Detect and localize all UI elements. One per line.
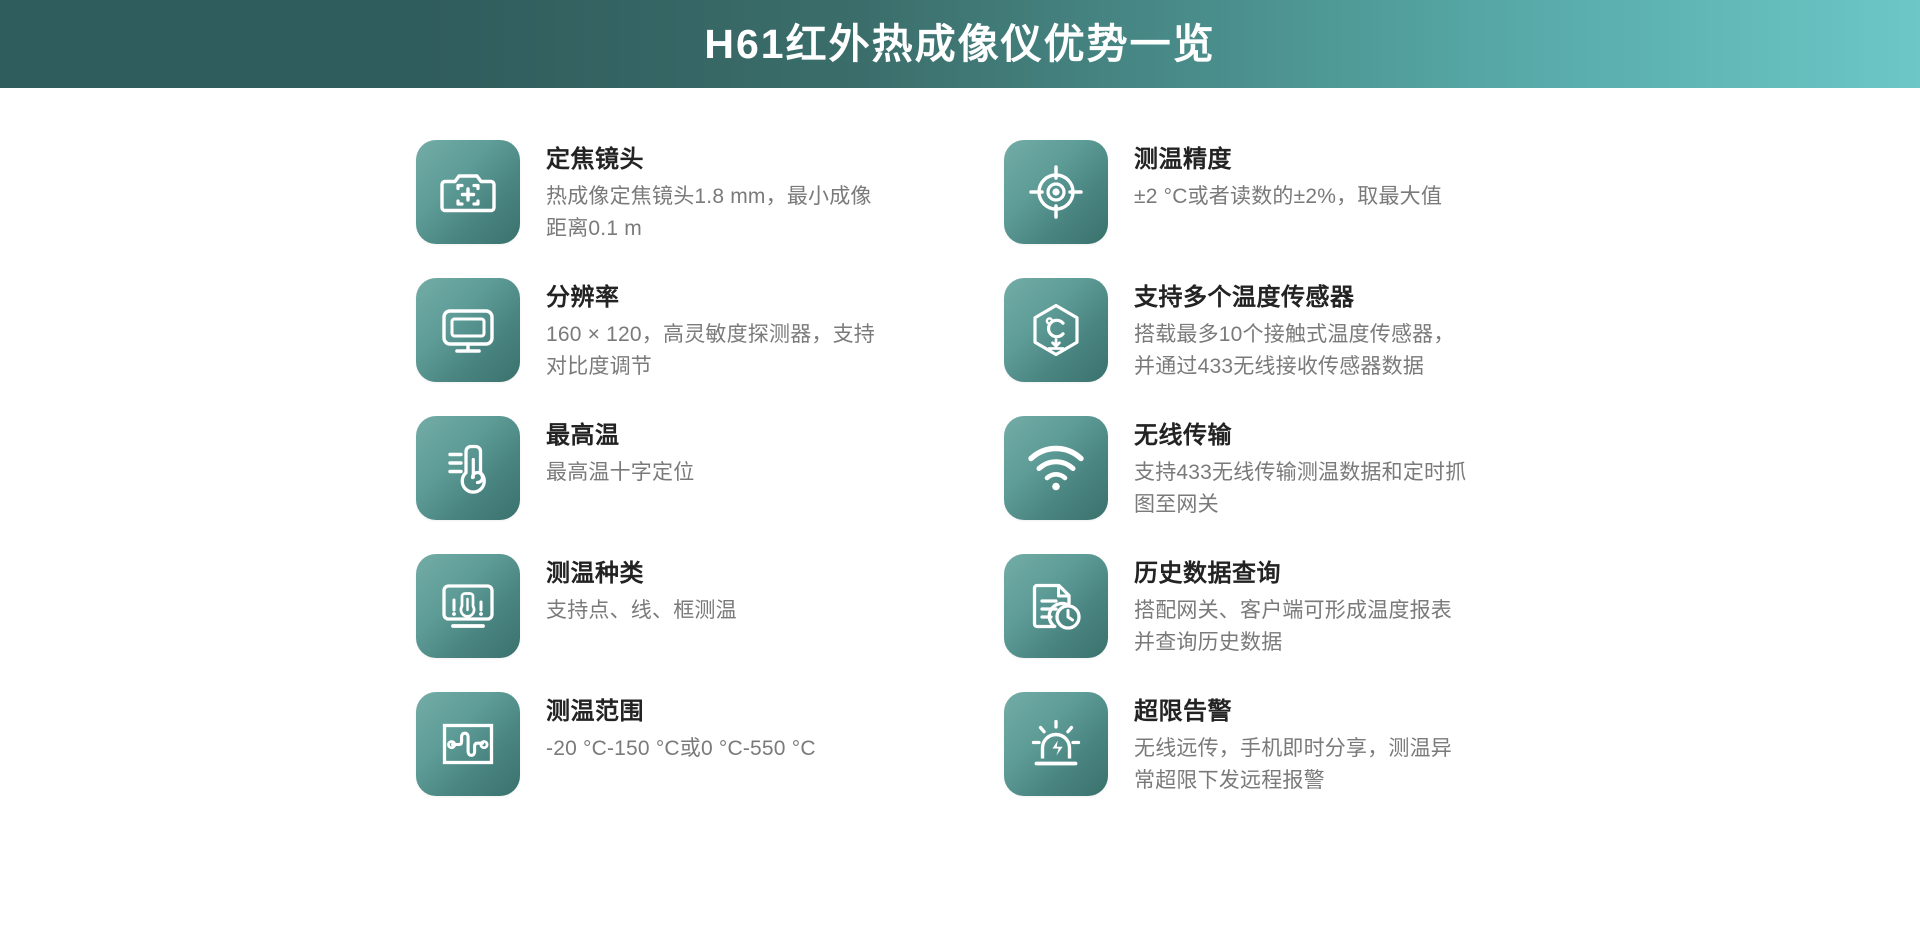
feature-description: 支持433无线传输测温数据和定时抓图至网关 xyxy=(1134,457,1472,522)
feature-title: 定焦镜头 xyxy=(546,144,884,176)
feature-description: ±2 °C或者读数的±2%，取最大值 xyxy=(1134,181,1442,214)
feature-text: 历史数据查询 搭配网关、客户端可形成温度报表并查询历史数据 xyxy=(1134,554,1472,660)
feature-item-multi-sensors: 支持多个温度传感器 搭载最多10个接触式温度传感器，并通过433无线接收传感器数… xyxy=(1004,278,1472,416)
feature-icon-tile xyxy=(416,416,520,520)
feature-icon-tile xyxy=(416,692,520,796)
feature-text: 无线传输 支持433无线传输测温数据和定时抓图至网关 xyxy=(1134,416,1472,522)
feature-title: 历史数据查询 xyxy=(1134,558,1472,590)
features-columns: 定焦镜头 热成像定焦镜头1.8 mm，最小成像距离0.1 m xyxy=(0,140,1920,830)
feature-title: 支持多个温度传感器 xyxy=(1134,282,1472,314)
monitor-icon xyxy=(439,301,497,359)
feature-text: 分辨率 160 × 120，高灵敏度探测器，支持对比度调节 xyxy=(546,278,884,384)
feature-icon-tile xyxy=(416,554,520,658)
thermometer-icon xyxy=(439,439,497,497)
feature-description: 支持点、线、框测温 xyxy=(546,595,737,628)
feature-text: 测温范围 -20 °C-150 °C或0 °C-550 °C xyxy=(546,692,816,765)
feature-text: 测温种类 支持点、线、框测温 xyxy=(546,554,737,627)
feature-text: 支持多个温度传感器 搭载最多10个接触式温度传感器，并通过433无线接收传感器数… xyxy=(1134,278,1472,384)
feature-item-accuracy: 测温精度 ±2 °C或者读数的±2%，取最大值 xyxy=(1004,140,1472,278)
feature-description: 热成像定焦镜头1.8 mm，最小成像距离0.1 m xyxy=(546,181,884,246)
feature-icon-tile xyxy=(1004,554,1108,658)
feature-icon-tile xyxy=(1004,416,1108,520)
feature-title: 分辨率 xyxy=(546,282,884,314)
feature-text: 测温精度 ±2 °C或者读数的±2%，取最大值 xyxy=(1134,140,1442,213)
feature-icon-tile xyxy=(1004,278,1108,382)
screen-thermometer-icon xyxy=(439,577,497,635)
feature-description: 最高温十字定位 xyxy=(546,457,694,490)
feature-item-history-query: 历史数据查询 搭配网关、客户端可形成温度报表并查询历史数据 xyxy=(1004,554,1472,692)
page-title: H61红外热成像仪优势一览 xyxy=(704,24,1215,65)
feature-title: 测温范围 xyxy=(546,696,816,728)
feature-description: 无线远传，手机即时分享，测温异常超限下发远程报警 xyxy=(1134,733,1472,798)
feature-icon-tile xyxy=(416,278,520,382)
features-column-left: 定焦镜头 热成像定焦镜头1.8 mm，最小成像距离0.1 m xyxy=(416,140,884,830)
feature-text: 最高温 最高温十字定位 xyxy=(546,416,694,489)
document-clock-icon xyxy=(1027,577,1085,635)
crosshair-target-icon xyxy=(1027,163,1085,221)
feature-title: 测温种类 xyxy=(546,558,737,590)
alarm-light-icon xyxy=(1027,715,1085,773)
feature-description: 搭载最多10个接触式温度传感器，并通过433无线接收传感器数据 xyxy=(1134,319,1472,384)
feature-item-max-temperature: 最高温 最高温十字定位 xyxy=(416,416,884,554)
feature-title: 测温精度 xyxy=(1134,144,1442,176)
camera-focus-icon xyxy=(439,163,497,221)
page-header-banner: H61红外热成像仪优势一览 xyxy=(0,0,1920,88)
feature-text: 超限告警 无线远传，手机即时分享，测温异常超限下发远程报警 xyxy=(1134,692,1472,798)
feature-icon-tile xyxy=(416,140,520,244)
feature-item-measure-range: 测温范围 -20 °C-150 °C或0 °C-550 °C xyxy=(416,692,884,830)
feature-item-wireless: 无线传输 支持433无线传输测温数据和定时抓图至网关 xyxy=(1004,416,1472,554)
feature-icon-tile xyxy=(1004,140,1108,244)
feature-item-measure-types: 测温种类 支持点、线、框测温 xyxy=(416,554,884,692)
feature-description: 160 × 120，高灵敏度探测器，支持对比度调节 xyxy=(546,319,884,384)
features-content: 定焦镜头 热成像定焦镜头1.8 mm，最小成像距离0.1 m xyxy=(0,88,1920,950)
feature-item-resolution: 分辨率 160 × 120，高灵敏度探测器，支持对比度调节 xyxy=(416,278,884,416)
feature-text: 定焦镜头 热成像定焦镜头1.8 mm，最小成像距离0.1 m xyxy=(546,140,884,246)
feature-title: 最高温 xyxy=(546,420,694,452)
feature-description: -20 °C-150 °C或0 °C-550 °C xyxy=(546,733,816,766)
feature-description: 搭配网关、客户端可形成温度报表并查询历史数据 xyxy=(1134,595,1472,660)
feature-title: 超限告警 xyxy=(1134,696,1472,728)
feature-item-over-limit-alarm: 超限告警 无线远传，手机即时分享，测温异常超限下发远程报警 xyxy=(1004,692,1472,830)
feature-title: 无线传输 xyxy=(1134,420,1472,452)
feature-item-fixed-focus-lens: 定焦镜头 热成像定焦镜头1.8 mm，最小成像距离0.1 m xyxy=(416,140,884,278)
feature-icon-tile xyxy=(1004,692,1108,796)
hexagon-celsius-icon xyxy=(1027,301,1085,359)
wifi-icon xyxy=(1027,439,1085,497)
waveform-icon xyxy=(439,715,497,773)
features-column-right: 测温精度 ±2 °C或者读数的±2%，取最大值 xyxy=(1004,140,1472,830)
